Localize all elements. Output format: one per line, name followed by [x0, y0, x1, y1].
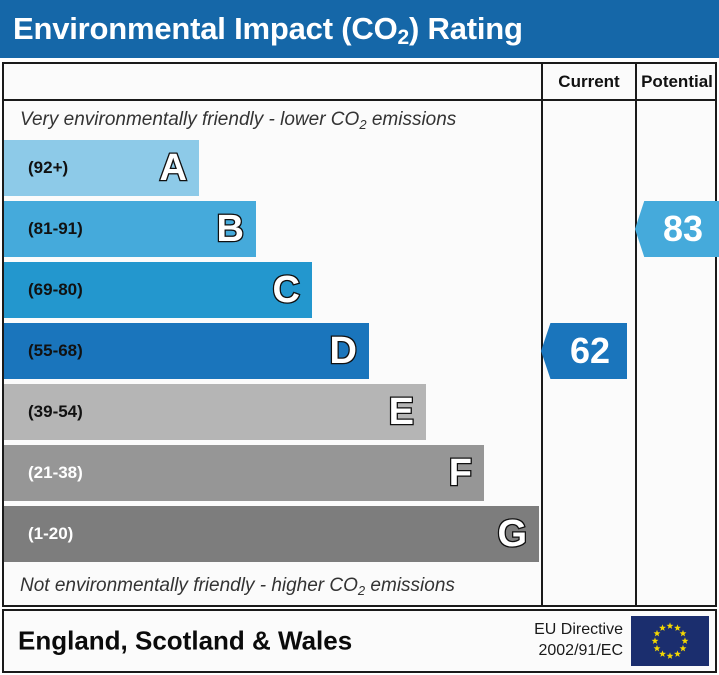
band-letter: A	[160, 149, 187, 187]
band-range-label: (55-68)	[28, 341, 83, 361]
caption-bottom-subscript: 2	[358, 583, 365, 598]
title-bar: Environmental Impact (CO2) Rating	[0, 0, 719, 58]
page-title-main: Environmental Impact (CO	[13, 11, 398, 46]
eu-directive-text: EU Directive 2002/91/EC	[534, 620, 623, 662]
current-rating-pointer: 62	[541, 323, 627, 379]
band-letter: G	[497, 515, 527, 553]
band-range-label: (92+)	[28, 158, 68, 178]
rating-chart: Very environmentally friendly - lower CO…	[4, 101, 541, 605]
page-title-tail: ) Rating	[409, 11, 523, 46]
footer-bar: England, Scotland & Wales EU Directive 2…	[2, 609, 717, 673]
caption-top-subscript: 2	[359, 117, 366, 132]
band-range-label: (39-54)	[28, 402, 83, 422]
column-header-potential: Potential	[637, 64, 717, 99]
rating-band-c: (69-80)C	[4, 262, 312, 318]
band-letter: D	[330, 332, 357, 370]
eu-flag-icon	[631, 616, 709, 666]
rating-band-f: (21-38)F	[4, 445, 484, 501]
band-range-label: (69-80)	[28, 280, 83, 300]
caption-top-prefix: Very environmentally friendly - lower CO	[20, 109, 359, 130]
band-letter: C	[273, 271, 300, 309]
rating-band-e: (39-54)E	[4, 384, 426, 440]
epc-environmental-impact-certificate: Environmental Impact (CO2) Rating Curren…	[0, 0, 719, 675]
caption-bottom: Not environmentally friendly - higher CO…	[20, 575, 455, 597]
page-title-subscript: 2	[398, 26, 409, 49]
caption-top: Very environmentally friendly - lower CO…	[20, 109, 456, 131]
band-range-label: (81-91)	[28, 219, 83, 239]
current-rating-value: 62	[541, 333, 627, 369]
band-letter: F	[449, 454, 472, 492]
eu-directive-line2: 2002/91/EC	[534, 641, 623, 662]
eu-directive-line1: EU Directive	[534, 620, 623, 641]
rating-band-d: (55-68)D	[4, 323, 369, 379]
band-range-label: (21-38)	[28, 463, 83, 483]
caption-top-suffix: emissions	[367, 109, 457, 130]
rating-band-b: (81-91)B	[4, 201, 256, 257]
caption-bottom-suffix: emissions	[365, 575, 455, 596]
page-title: Environmental Impact (CO2) Rating	[13, 11, 523, 47]
header-divider-right	[541, 99, 715, 101]
column-header-current: Current	[543, 64, 635, 99]
rating-band-g: (1-20)G	[4, 506, 539, 562]
potential-rating-value: 83	[635, 211, 719, 247]
caption-bottom-prefix: Not environmentally friendly - higher CO	[20, 575, 358, 596]
rating-bands: (92+)A(81-91)B(69-80)C(55-68)D(39-54)E(2…	[4, 140, 541, 562]
band-letter: E	[389, 393, 414, 431]
column-separator-current	[541, 64, 543, 605]
band-range-label: (1-20)	[28, 524, 73, 544]
band-letter: B	[217, 210, 244, 248]
potential-rating-pointer: 83	[635, 201, 719, 257]
column-separator-potential	[635, 64, 637, 605]
rating-band-a: (92+)A	[4, 140, 199, 196]
footer-region-label: England, Scotland & Wales	[18, 626, 352, 657]
